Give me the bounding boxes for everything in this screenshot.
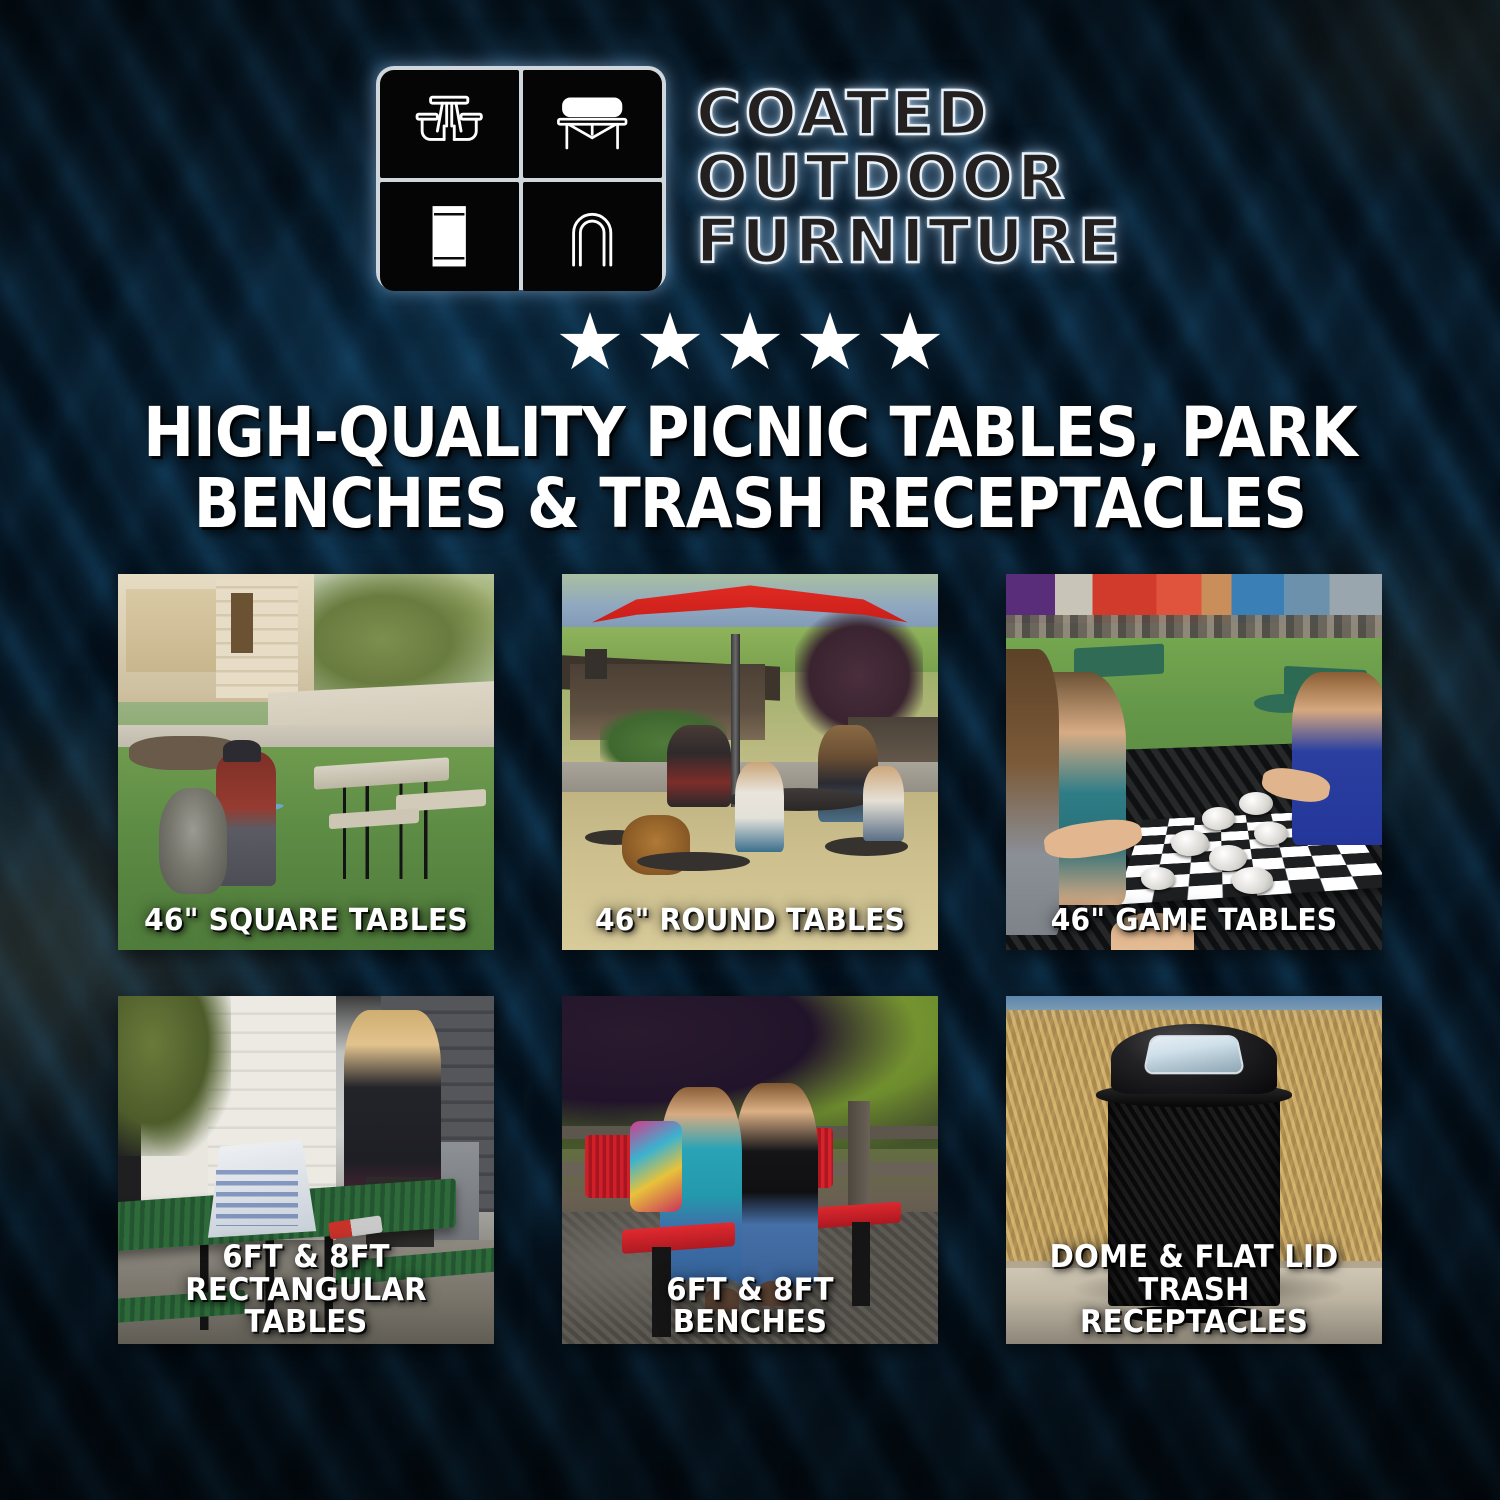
product-caption: 46" SQUARE TABLES	[129, 905, 482, 936]
picnic-table-icon	[380, 70, 519, 178]
product-caption: DOME & FLAT LID TRASH RECEPTACLES	[1017, 1241, 1370, 1338]
bench-icon	[523, 70, 662, 178]
star-rating	[0, 312, 1500, 374]
bike-rack-icon	[523, 182, 662, 290]
star-icon	[879, 312, 941, 374]
product-caption: 46" GAME TABLES	[1017, 905, 1370, 936]
headline-line-2: BENCHES & TRASH RECEPTACLES	[143, 469, 1357, 540]
product-caption-line-2: TRASH RECEPTACLES	[1025, 1274, 1363, 1338]
star-icon	[799, 312, 861, 374]
product-tile-game-tables[interactable]: 46" GAME TABLES	[1006, 574, 1382, 950]
product-tile-benches[interactable]: 6FT & 8FT BENCHES	[562, 996, 938, 1344]
promo-banner: COATED OUTDOOR FURNITURE HIGH-QUALITY PI…	[0, 0, 1500, 1500]
brand-wordmark: COATED OUTDOOR FURNITURE	[696, 83, 1124, 274]
star-icon	[639, 312, 701, 374]
headline: HIGH-QUALITY PICNIC TABLES, PARK BENCHES…	[90, 398, 1410, 540]
product-photo	[562, 574, 938, 950]
brand-logo: COATED OUTDOOR FURNITURE	[0, 0, 1500, 290]
brand-line-2: OUTDOOR	[696, 147, 1124, 209]
product-grid: 46" SQUARE TABLES	[118, 574, 1382, 1344]
brand-line-3: FURNITURE	[696, 211, 1124, 273]
product-tile-rectangular-tables[interactable]: 6FT & 8FT RECTANGULAR TABLES	[118, 996, 494, 1344]
product-caption-line-2: BENCHES	[581, 1306, 919, 1338]
product-caption-line-1: 6FT & 8FT	[666, 1272, 834, 1308]
product-caption: 6FT & 8FT BENCHES	[573, 1274, 926, 1338]
star-icon	[559, 312, 621, 374]
product-caption-line-1: 6FT & 8FT	[222, 1239, 390, 1275]
product-tile-square-tables[interactable]: 46" SQUARE TABLES	[118, 574, 494, 950]
logo-icon-grid	[376, 66, 666, 290]
product-photo	[1006, 574, 1382, 950]
product-caption: 46" ROUND TABLES	[573, 905, 926, 936]
brand-line-1: COATED	[696, 83, 1124, 145]
headline-line-1: HIGH-QUALITY PICNIC TABLES, PARK	[143, 398, 1357, 469]
product-caption-line-1: 46" SQUARE TABLES	[144, 903, 468, 938]
product-tile-trash-receptacles[interactable]: DOME & FLAT LID TRASH RECEPTACLES	[1006, 996, 1382, 1344]
star-icon	[719, 312, 781, 374]
product-caption-line-2: RECTANGULAR TABLES	[137, 1274, 475, 1338]
product-caption-line-1: 46" GAME TABLES	[1051, 903, 1338, 938]
product-caption: 6FT & 8FT RECTANGULAR TABLES	[129, 1241, 482, 1338]
trash-receptacle-icon	[380, 182, 519, 290]
product-photo	[118, 574, 494, 950]
product-caption-line-1: 46" ROUND TABLES	[595, 903, 905, 938]
product-caption-line-1: DOME & FLAT LID	[1050, 1239, 1339, 1275]
product-tile-round-tables[interactable]: 46" ROUND TABLES	[562, 574, 938, 950]
